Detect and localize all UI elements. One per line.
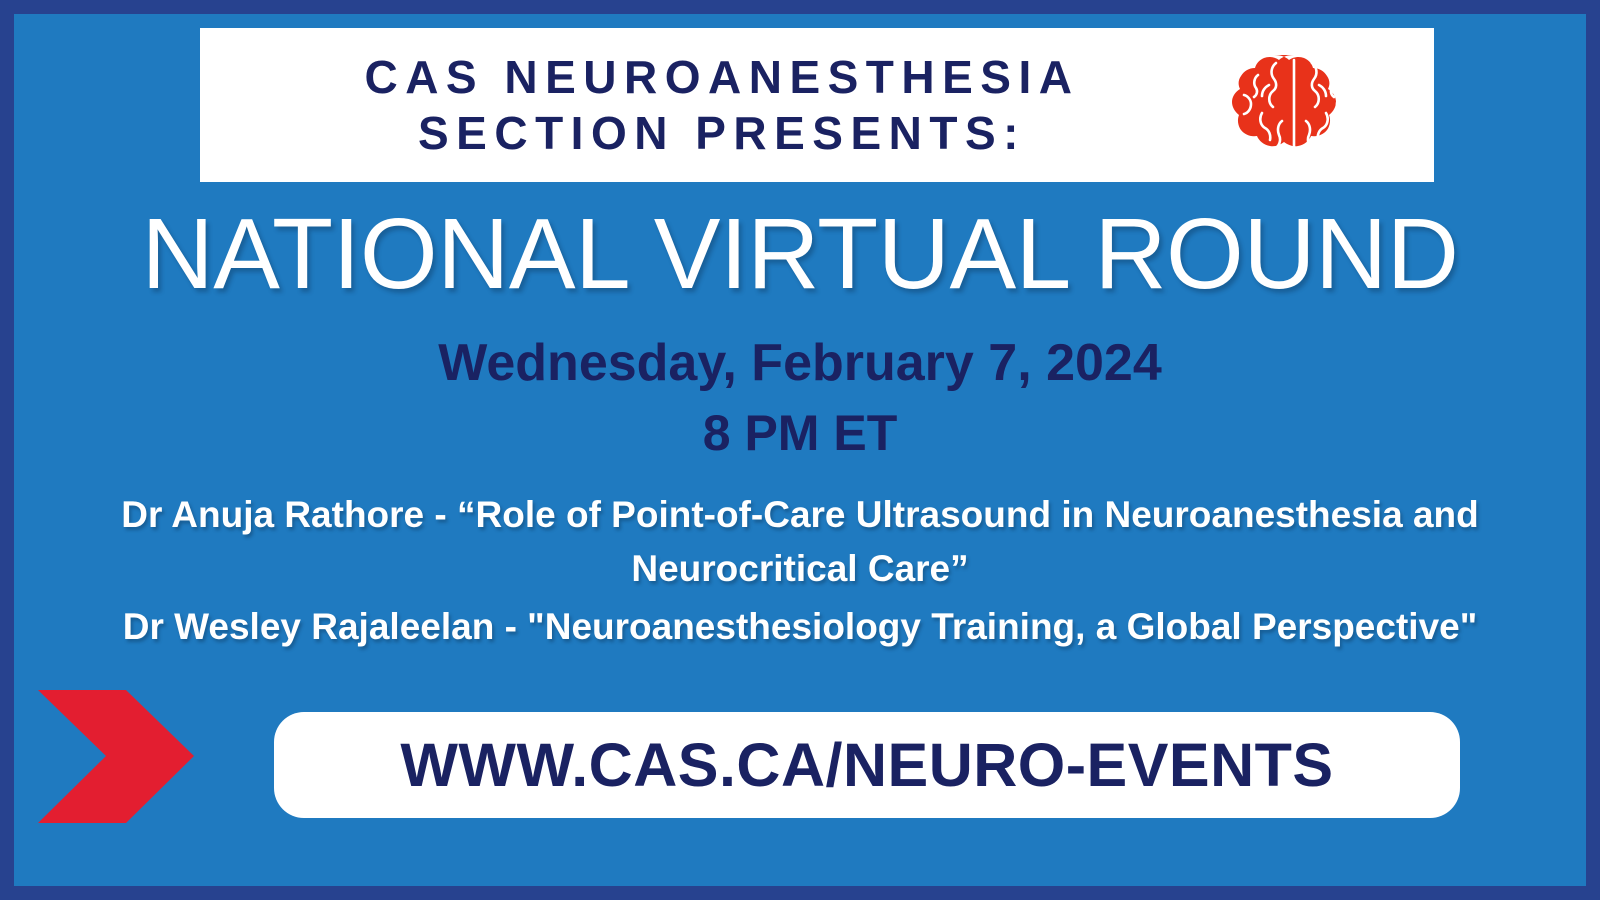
page-title: NATIONAL VIRTUAL ROUND [14,204,1586,304]
website-url-text[interactable]: WWW.CAS.CA/NEURO-EVENTS [400,730,1333,800]
header-banner: CAS NEUROANESTHESIA SECTION PRESENTS: [200,28,1434,182]
speaker-item: Dr Anuja Rathore - “Role of Point-of-Car… [38,488,1562,596]
speaker-list: Dr Anuja Rathore - “Role of Point-of-Car… [38,488,1562,654]
speaker-item: Dr Wesley Rajaleelan - "Neuroanesthesiol… [38,600,1562,654]
event-datetime: Wednesday, February 7, 2024 8 PM ET [14,332,1586,464]
event-date: Wednesday, February 7, 2024 [14,332,1586,395]
poster-inner-field: CAS NEUROANESTHESIA SECTION PRESENTS: [14,14,1586,886]
website-url-banner[interactable]: WWW.CAS.CA/NEURO-EVENTS [274,712,1460,818]
header-line-2: SECTION PRESENTS: [248,105,1196,161]
event-time: 8 PM ET [14,403,1586,464]
header-title: CAS NEUROANESTHESIA SECTION PRESENTS: [248,49,1214,161]
brain-icon [1214,51,1374,159]
poster-canvas: CAS NEUROANESTHESIA SECTION PRESENTS: [0,0,1600,900]
chevron-right-icon [26,684,196,829]
header-line-1: CAS NEUROANESTHESIA [364,51,1079,103]
